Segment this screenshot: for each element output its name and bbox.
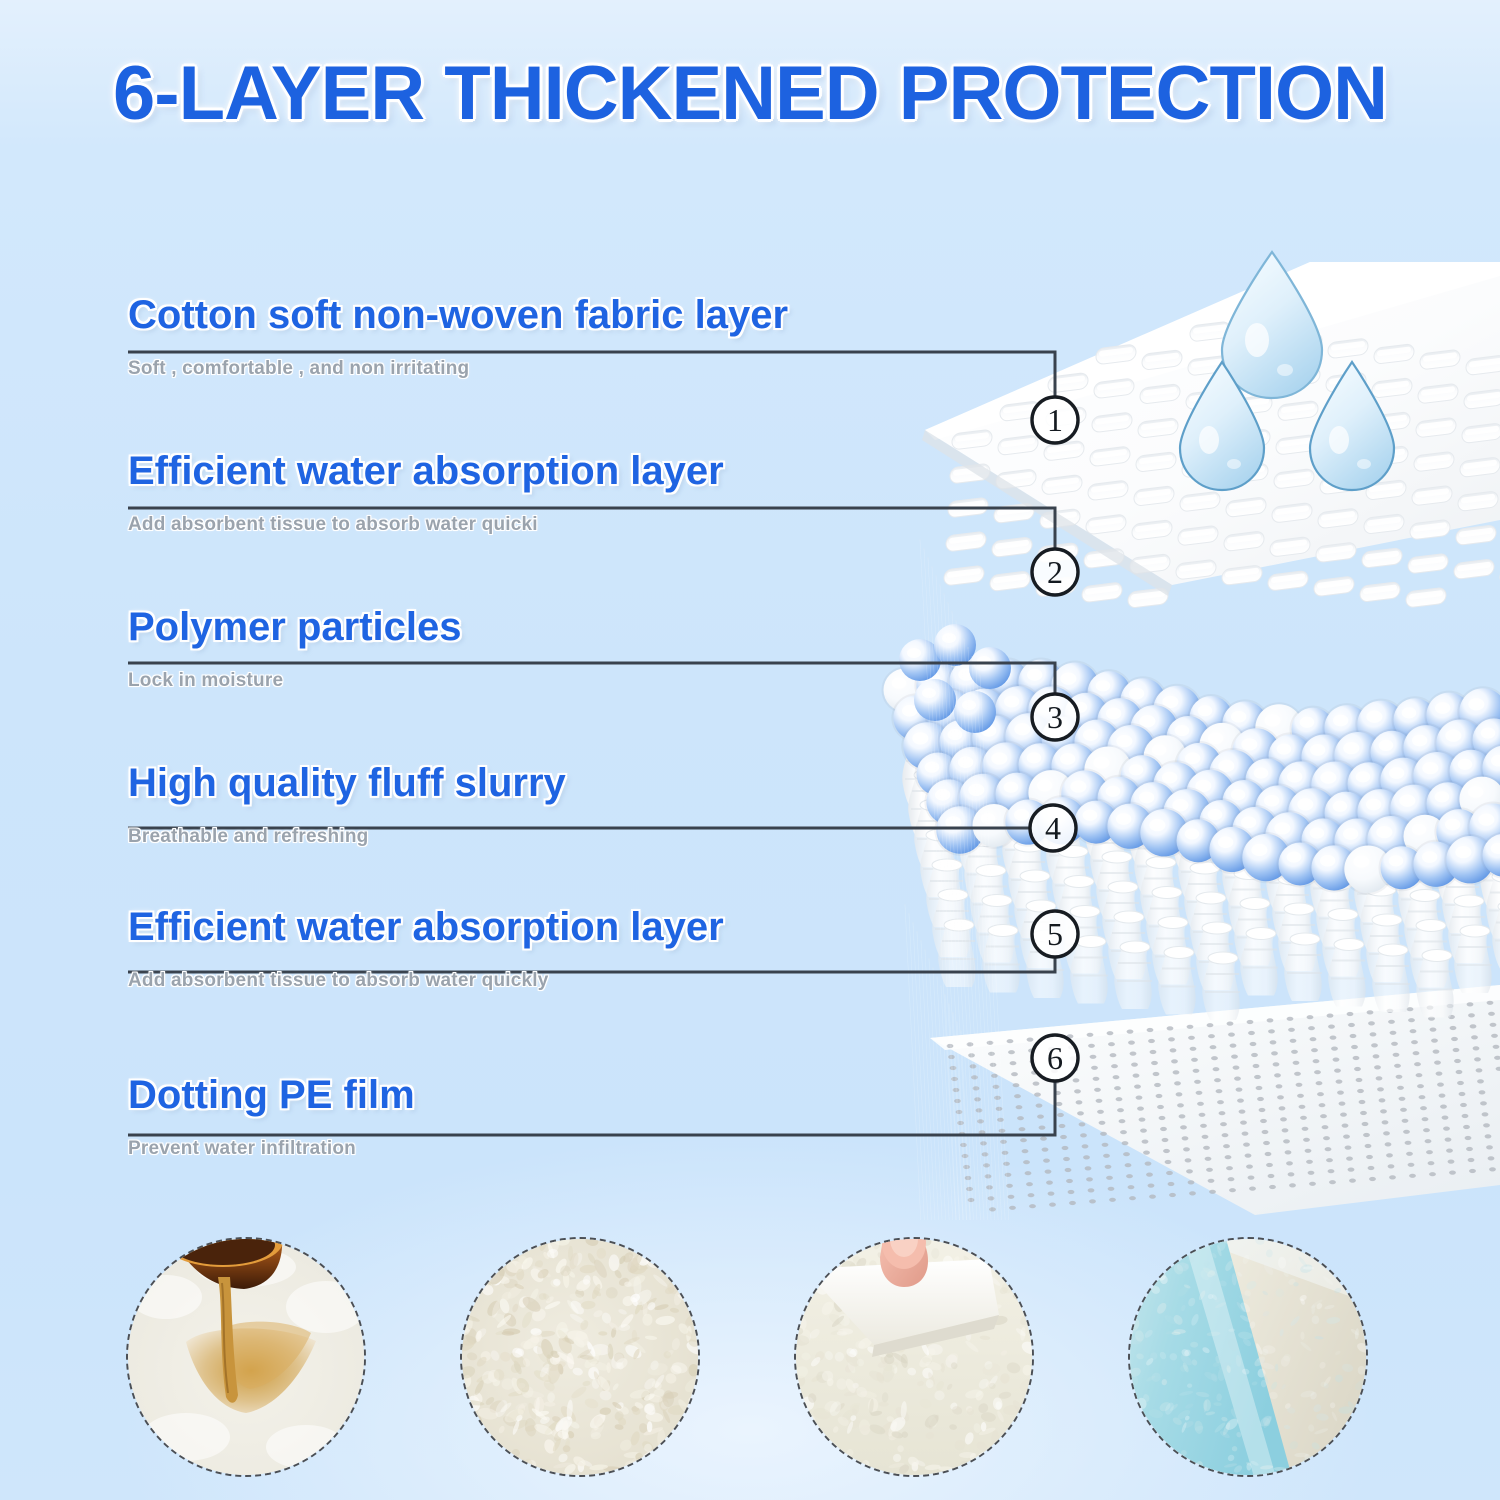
layer-block-2: Efficient water absorption layer Add abs… xyxy=(128,448,724,536)
layer-marker-6: 6 xyxy=(1032,1035,1078,1081)
finger-lifting-dry-surface-photo xyxy=(794,1237,1034,1477)
blue-white-fabric-layers-photo xyxy=(1128,1237,1368,1477)
thumbnail-liquid-pour[interactable] xyxy=(126,1237,366,1477)
thumbnail-fluff-texture[interactable] xyxy=(460,1237,700,1477)
liquid-pour-absorption-photo xyxy=(126,1237,366,1477)
layer-subtitle: Soft , comfortable , and non irritating xyxy=(128,358,788,380)
layer1-nonwoven-sheet xyxy=(922,262,1500,608)
thumbnail-fabric-layers[interactable] xyxy=(1128,1237,1368,1477)
layer-title: Dotting PE film xyxy=(128,1072,415,1118)
layer6-dotted-pe-film xyxy=(930,985,1500,1215)
layer-title: Cotton soft non-woven fabric layer xyxy=(128,292,788,338)
page-title: 6-LAYER THICKENED PROTECTION xyxy=(0,56,1500,132)
layer-marker-1: 1 xyxy=(1032,397,1078,443)
water-droplet xyxy=(1222,252,1322,398)
layer4-fluff-tufts xyxy=(902,739,1500,1020)
layer-marker-3: 3 xyxy=(1032,694,1078,740)
infographic-root: 6-LAYER THICKENED PROTECTION xyxy=(0,0,1500,1500)
svg-text:1: 1 xyxy=(1047,402,1063,438)
layer-subtitle: Lock in moisture xyxy=(128,670,462,692)
layer-block-4: High quality fluff slurry Breathable and… xyxy=(128,760,566,848)
svg-text:5: 5 xyxy=(1047,916,1063,952)
layer-title: High quality fluff slurry xyxy=(128,760,566,806)
svg-text:3: 3 xyxy=(1047,699,1063,735)
layer-subtitle: Add absorbent tissue to absorb water qui… xyxy=(128,514,724,536)
layer-subtitle: Breathable and refreshing xyxy=(128,826,566,848)
layer-block-3: Polymer particles Lock in moisture xyxy=(128,604,462,692)
layer-block-1: Cotton soft non-woven fabric layer Soft … xyxy=(128,292,788,380)
layer-block-6: Dotting PE film Prevent water infiltrati… xyxy=(128,1072,415,1160)
svg-text:6: 6 xyxy=(1047,1040,1063,1076)
layer-subtitle: Prevent water infiltration xyxy=(128,1138,415,1160)
layer-title: Efficient water absorption layer xyxy=(128,448,724,494)
layer-marker-4: 4 xyxy=(1030,805,1076,851)
layer-marker-2: 2 xyxy=(1032,549,1078,595)
layer-marker-5: 5 xyxy=(1032,911,1078,957)
water-droplet-group xyxy=(1180,252,1394,490)
layer-title: Polymer particles xyxy=(128,604,462,650)
layer-title: Efficient water absorption layer xyxy=(128,904,724,950)
layer3-polymer-particles xyxy=(882,624,1500,895)
fluff-pulp-texture-photo xyxy=(460,1237,700,1477)
water-droplet xyxy=(1310,362,1394,490)
layer-block-5: Efficient water absorption layer Add abs… xyxy=(128,904,724,992)
water-droplet xyxy=(1180,362,1264,490)
layer-subtitle: Add absorbent tissue to absorb water qui… xyxy=(128,970,724,992)
thumbnail-finger-lift[interactable] xyxy=(794,1237,1034,1477)
svg-text:2: 2 xyxy=(1047,554,1063,590)
svg-text:4: 4 xyxy=(1045,810,1061,846)
